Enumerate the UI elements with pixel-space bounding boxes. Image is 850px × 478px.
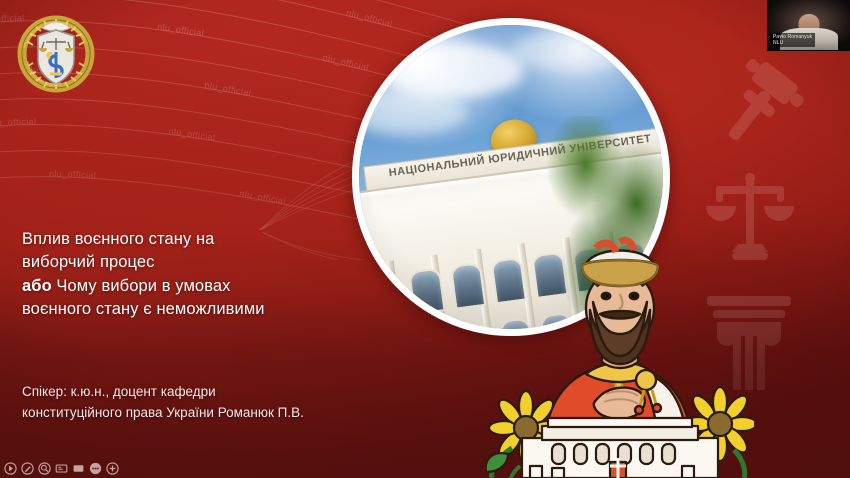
annotation-toolbar[interactable] [3,461,119,475]
pointer-tool-button[interactable] [3,461,17,475]
participant-name: Pavlo Romanyuk [773,34,812,40]
text-box-tool-button[interactable] [54,461,68,475]
title-line-3-rest: Чому вибори в умовах [52,277,231,295]
participant-subtitle: NLU [773,40,812,46]
university-emblem: НАЦІОНАЛЬНИЙ ЮРИДИЧНИЙ УНІВЕРСИТЕТ імені… [14,8,98,94]
title-line-1: Вплив воєнного стану на [22,228,352,251]
zoom-tool-button[interactable] [37,461,51,475]
pen-tool-button[interactable] [20,461,34,475]
title-line-4: воєнного стану є неможливими [22,298,352,321]
title-emphasis: або [22,277,52,295]
title-line-3: або Чому вибори в умовах [22,275,352,298]
slide-title: Вплив воєнного стану на виборчий процес … [22,228,352,322]
speaker-line-1: Спікер: к.ю.н., доцент кафедри [22,382,422,403]
photo-shading [359,25,663,329]
more-tools-button[interactable] [88,461,102,475]
shape-tool-button[interactable] [71,461,85,475]
title-line-2: виборчий процес [22,251,352,274]
speaker-line-2: конституційного права України Романюк П.… [22,403,422,424]
speaker-credit: Спікер: к.ю.н., доцент кафедри конституц… [22,382,422,424]
add-tool-button[interactable] [105,461,119,475]
university-building-photo: НАЦІОНАЛЬНИЙ ЮРИДИЧНИЙ УНІВЕРСИТЕТ [352,18,670,336]
presentation-slide: nlu_official nlu_official nlu_official n… [0,0,850,478]
webcam-thumbnail[interactable]: Pavlo Romanyuk NLU [767,0,850,51]
participant-name-label: Pavlo Romanyuk NLU [770,33,815,48]
